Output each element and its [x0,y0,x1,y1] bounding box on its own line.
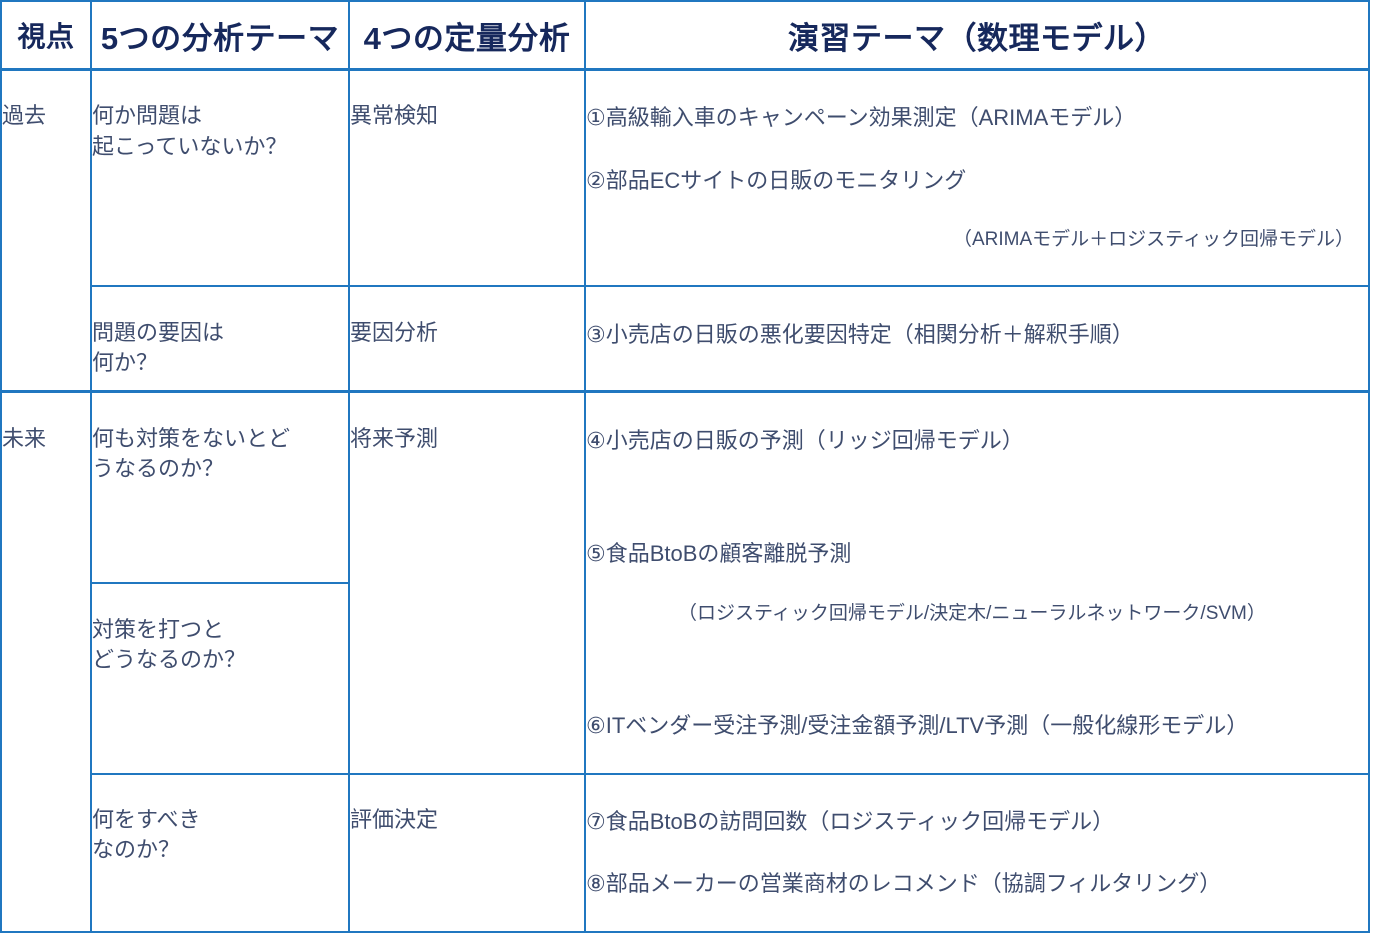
header-label-analysis-themes: 5つの分析テーマ [101,21,339,56]
quantitative-label-factor-analysis: 要因分析 [350,320,438,345]
quantitative-cell-future-forecast: 将来予測 [349,392,585,774]
theme-cell-future-2: 対策を打つと どうなるのか？ [91,583,349,773]
quantitative-cell-factor-analysis: 要因分析 [349,286,585,392]
exercise-item-6: ⑥ITベンダー受注予測/受注金額予測/LTV予測（一般化線形モデル） [586,710,1368,741]
perspective-label-past: 過去 [2,103,46,128]
theme-cell-past-2: 問題の要因は 何か？ [91,286,349,392]
perspective-cell-future: 未来 [1,392,91,932]
exercise-item-3: ③小売店の日販の悪化要因特定（相関分析＋解釈手順） [586,319,1368,350]
exercise-item-2-model: （ARIMAモデル＋ロジスティック回帰モデル） [586,227,1368,254]
analysis-framework-table: 視点 5つの分析テーマ 4つの定量分析 演習テーマ（数理モデル） 過去 何か問題… [0,0,1370,933]
header-label-quantitative: 4つの定量分析 [364,21,571,56]
table-row: 未来 何も対策をないとど うなるのか？ 将来予測 ④小売店の日販の予測（リッジ回… [1,392,1369,583]
exercise-item-8: ⑧部品メーカーの営業商材のレコメンド（協調フィルタリング） [586,868,1368,899]
exercise-cell-future-1: ④小売店の日販の予測（リッジ回帰モデル） ⑤食品BtoBの顧客離脱予測 （ロジス… [585,392,1369,774]
quantitative-label-future-forecast: 将来予測 [350,426,438,451]
theme-cell-future-1: 何も対策をないとど うなるのか？ [91,392,349,583]
quantitative-cell-evaluation-decision: 評価決定 [349,774,585,932]
quantitative-cell-anomaly-detection: 異常検知 [349,70,585,287]
header-cell-perspective: 視点 [1,1,91,70]
exercise-item-7: ⑦食品BtoBの訪問回数（ロジスティック回帰モデル） [586,806,1368,837]
header-cell-analysis-themes: 5つの分析テーマ [91,1,349,70]
table-header-row: 視点 5つの分析テーマ 4つの定量分析 演習テーマ（数理モデル） [1,1,1369,70]
theme-label-past-1: 何か問題は 起こっていないか？ [92,103,287,158]
header-cell-exercise-themes: 演習テーマ（数理モデル） [585,1,1369,70]
exercise-item-1: ①高級輸入車のキャンペーン効果測定（ARIMAモデル） [586,102,1368,133]
exercise-item-5-model: （ロジスティック回帰モデル/決定木/ニューラルネットワーク/SVM） [586,601,1368,628]
header-cell-quantitative: 4つの定量分析 [349,1,585,70]
exercise-item-2: ②部品ECサイトの日販のモニタリング [586,165,1368,196]
theme-label-past-2: 問題の要因は 何か？ [92,320,224,375]
exercise-cell-past-1: ①高級輸入車のキャンペーン効果測定（ARIMAモデル） ②部品ECサイトの日販の… [585,70,1369,287]
quantitative-label-anomaly-detection: 異常検知 [350,103,438,128]
header-label-exercise-themes: 演習テーマ（数理モデル） [788,21,1166,56]
theme-cell-future-3: 何をすべき なのか？ [91,774,349,932]
table-row: 問題の要因は 何か？ 要因分析 ③小売店の日販の悪化要因特定（相関分析＋解釈手順… [1,286,1369,392]
perspective-cell-past: 過去 [1,70,91,392]
theme-label-future-1: 何も対策をないとど うなるのか？ [92,426,290,481]
theme-label-future-2: 対策を打つと どうなるのか？ [92,617,246,672]
table-row: 何をすべき なのか？ 評価決定 ⑦食品BtoBの訪問回数（ロジスティック回帰モデ… [1,774,1369,932]
header-label-perspective: 視点 [17,21,74,52]
quantitative-label-evaluation-decision: 評価決定 [350,807,438,832]
exercise-cell-past-2: ③小売店の日販の悪化要因特定（相関分析＋解釈手順） [585,286,1369,392]
table-row: 過去 何か問題は 起こっていないか？ 異常検知 ①高級輸入車のキャンペーン効果測… [1,70,1369,287]
exercise-item-5: ⑤食品BtoBの顧客離脱予測 [586,538,1368,569]
exercise-spacer [586,487,1368,507]
exercise-spacer-2 [586,659,1368,679]
theme-cell-past-1: 何か問題は 起こっていないか？ [91,70,349,287]
exercise-cell-future-3: ⑦食品BtoBの訪問回数（ロジスティック回帰モデル） ⑧部品メーカーの営業商材の… [585,774,1369,932]
exercise-item-4: ④小売店の日販の予測（リッジ回帰モデル） [586,425,1368,456]
theme-label-future-3: 何をすべき なのか？ [92,807,200,862]
perspective-label-future: 未来 [2,426,46,451]
